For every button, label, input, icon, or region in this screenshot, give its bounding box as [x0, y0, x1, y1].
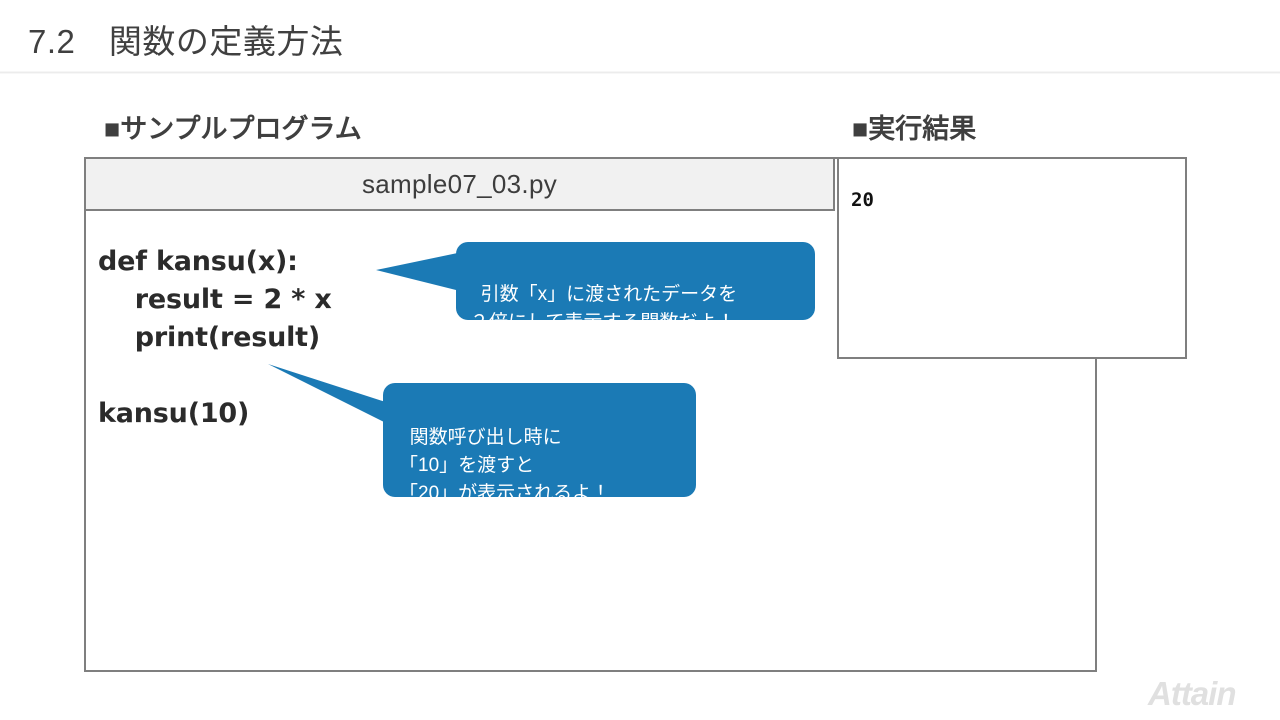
execution-output-text: 20 [851, 188, 874, 212]
callout-argument-bubble: 引数「x」に渡されたデータを ２倍にして表示する関数だよ！ [456, 242, 815, 320]
slide-header: 7.2 関数の定義方法 [0, 0, 1280, 73]
code-filename-label: sample07_03.py [362, 169, 557, 200]
sample-program-heading: ■サンプルプログラム [104, 107, 362, 146]
callout-call-bubble: 関数呼び出し時に 「10」を渡すと 「20」が表示されるよ！ [383, 383, 696, 497]
header-divider [0, 71, 1280, 74]
execution-result-heading: ■実行結果 [852, 107, 976, 146]
attain-logo: Attain [1148, 675, 1236, 713]
execution-result-panel: 20 [837, 157, 1187, 359]
page-title: 7.2 関数の定義方法 [28, 15, 343, 63]
code-filename-bar: sample07_03.py [86, 159, 835, 211]
callout-argument-text: 引数「x」に渡されたデータを ２倍にして表示する関数だよ！ [470, 284, 737, 333]
callout-call-text: 関数呼び出し時に 「10」を渡すと 「20」が表示されるよ！ [399, 427, 610, 504]
